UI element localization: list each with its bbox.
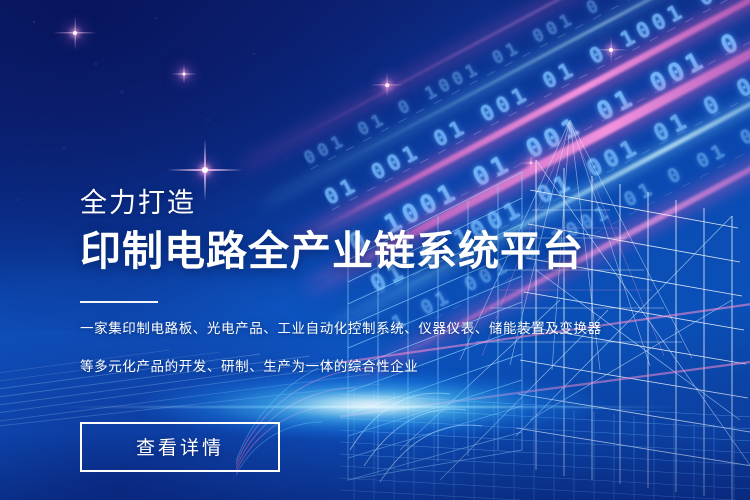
hero-headline: 印制电路全产业链系统平台 [80, 229, 680, 273]
hero-description-line-1: 一家集印制电路板、光电产品、工业自动化控制系统、仪器仪表、储能装置及变换器 [80, 317, 680, 342]
hero-divider [80, 301, 158, 303]
hero-banner: 001 01 0 1001 01 001 0 1 0 01 001 01 001… [0, 0, 750, 500]
view-details-button[interactable]: 查看详情 [80, 422, 280, 472]
hero-content: 全力打造 印制电路全产业链系统平台 一家集印制电路板、光电产品、工业自动化控制系… [80, 190, 680, 472]
hero-eyebrow: 全力打造 [80, 190, 680, 217]
hero-description-line-2: 等多元化产品的开发、研制、生产为一体的综合性企业 [80, 355, 680, 380]
